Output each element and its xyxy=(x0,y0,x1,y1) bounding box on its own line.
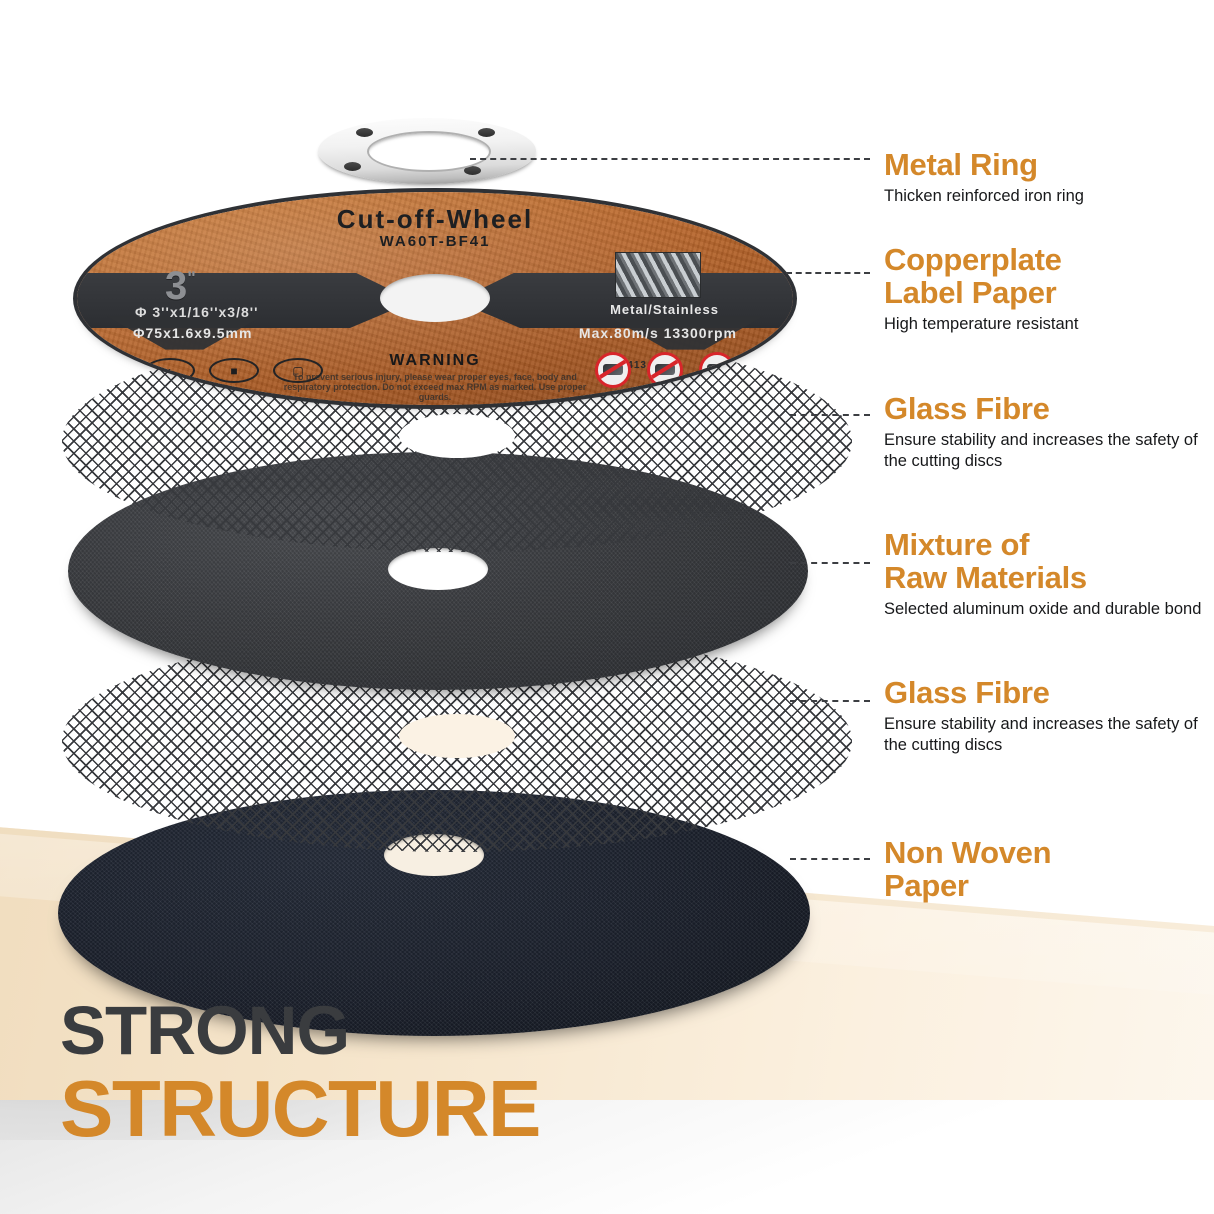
headline: STRONG STRUCTURE xyxy=(60,995,540,1151)
metal-ring-hole xyxy=(356,128,373,137)
wheel-size: 3" xyxy=(165,264,196,309)
callout-glass-fibre-top: Glass Fibre Ensure stability and increas… xyxy=(884,392,1214,472)
headline-line-1: STRONG xyxy=(60,995,540,1067)
wheel-material: Metal/Stainless xyxy=(610,302,719,317)
wheel-max-speed: Max.80m/s 13300rpm xyxy=(579,325,737,341)
callout-title-line-1: Mixture of xyxy=(884,528,1214,561)
callout-title-line-1: Copperplate xyxy=(884,243,1214,276)
callout-subtitle: High temperature resistant xyxy=(884,314,1214,335)
callout-subtitle: Selected aluminum oxide and durable bond xyxy=(884,599,1214,620)
callout-subtitle: Ensure stability and increases the safet… xyxy=(884,430,1214,472)
wheel-warning-body: To prevent serious injury, please wear p… xyxy=(270,372,600,402)
wheel-product-code: WA60T-BF41 xyxy=(380,233,491,250)
no-grinding-icon xyxy=(595,352,631,388)
callout-subtitle: Thicken reinforced iron ring xyxy=(884,186,1214,207)
leader-raw-material xyxy=(790,562,870,564)
leader-metal-ring xyxy=(470,158,870,160)
glove-icon: ■ xyxy=(209,358,259,383)
label-disc-bore xyxy=(380,274,490,322)
wheel-dimension-metric: Φ75x1.6x9.5mm xyxy=(133,325,252,341)
metal-ring-hole xyxy=(478,128,495,137)
callout-copperplate-label-paper: Copperplate Label Paper High temperature… xyxy=(884,243,1214,335)
raw-material-bore xyxy=(388,548,488,590)
callout-mixture-raw-materials: Mixture of Raw Materials Selected alumin… xyxy=(884,528,1214,620)
callout-glass-fibre-bottom: Glass Fibre Ensure stability and increas… xyxy=(884,676,1214,756)
no-side-use-icon xyxy=(699,352,735,388)
wheel-warning-heading: WARNING xyxy=(389,352,480,370)
headline-line-2: STRUCTURE xyxy=(60,1067,540,1151)
callout-title: Glass Fibre xyxy=(884,392,1214,425)
leader-non-woven xyxy=(790,858,870,860)
metal-stock-image xyxy=(615,252,701,298)
no-wet-cut-icon xyxy=(647,352,683,388)
leader-label-paper xyxy=(786,272,870,274)
glass-fibre-top-bore xyxy=(399,414,515,458)
callout-title: Metal Ring xyxy=(884,148,1214,181)
callout-title-line-2: Raw Materials xyxy=(884,561,1214,594)
callout-title-line-1: Non Woven xyxy=(884,836,1214,869)
callout-title: Glass Fibre xyxy=(884,676,1214,709)
leader-glass-fibre-top xyxy=(790,414,870,416)
wheel-dimension-imperial: Φ 3''x1/16''x3/8'' xyxy=(135,304,258,320)
metal-ring-bore xyxy=(367,131,491,172)
leader-glass-fibre-bottom xyxy=(790,700,870,702)
callout-title-line-2: Paper xyxy=(884,869,1214,902)
infographic-canvas: Cut-off-Wheel WA60T-BF41 3" Φ 3''x1/16''… xyxy=(0,0,1214,1214)
callout-title-line-2: Label Paper xyxy=(884,276,1214,309)
goggles-icon: ◐ xyxy=(145,358,195,383)
callout-subtitle: Ensure stability and increases the safet… xyxy=(884,714,1214,756)
callout-non-woven-paper: Non Woven Paper xyxy=(884,836,1214,902)
wheel-title: Cut-off-Wheel xyxy=(337,204,533,235)
glass-fibre-bottom-bore xyxy=(399,714,515,758)
callout-metal-ring: Metal Ring Thicken reinforced iron ring xyxy=(884,148,1214,207)
metal-ring-hole xyxy=(344,162,361,171)
copperplate-label-disc: Cut-off-Wheel WA60T-BF41 3" Φ 3''x1/16''… xyxy=(77,192,793,405)
